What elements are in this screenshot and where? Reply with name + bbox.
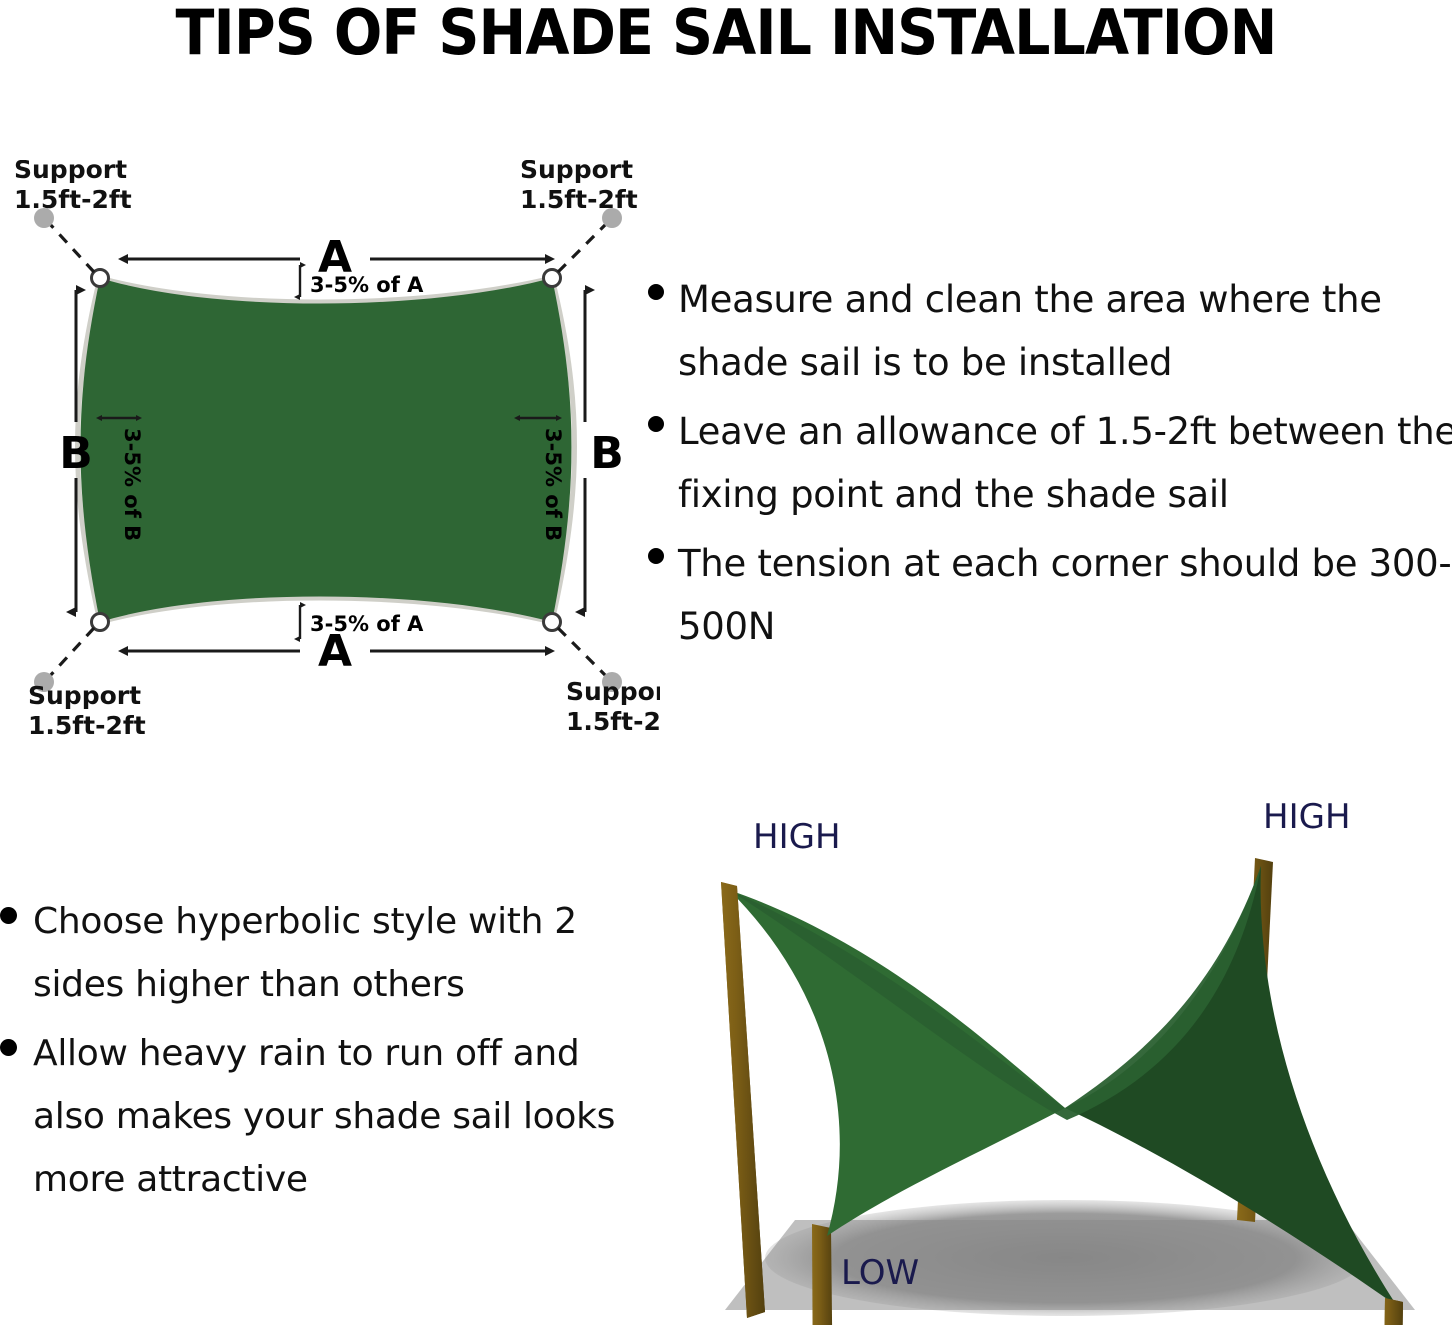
grommet-top-left [92, 270, 109, 287]
list-item: Measure and clean the area where the sha… [648, 268, 1452, 394]
dim-label-b-left: B [59, 428, 93, 479]
bullet-dot-icon [0, 907, 17, 924]
list-item: Leave an allowance of 1.5-2ft between th… [648, 400, 1452, 526]
infographic-page: TIPS OF SHADE SAIL INSTALLATION [0, 0, 1452, 1325]
grommet-bottom-left [92, 614, 109, 631]
dimension-b-right: B [585, 290, 624, 612]
bullet-dot-icon [648, 548, 664, 564]
support-label-bottom-left-line2: 1.5ft-2ft [28, 711, 146, 740]
tips-list-top: Measure and clean the area where the sha… [648, 268, 1452, 664]
support-line-bottom-right [558, 628, 608, 678]
rect-sail-diagram: A A B B 3-5% of A [0, 160, 660, 740]
support-label-top-right-line1: Support [520, 160, 633, 184]
curve-label-bottom: 3-5% of A [310, 612, 424, 636]
bullet-dot-icon [648, 284, 664, 300]
label-low-left: LOW [841, 1253, 919, 1293]
bullet-dot-icon [0, 1039, 17, 1056]
grommet-top-right [544, 270, 561, 287]
support-line-top-right [558, 222, 608, 272]
bullet-dot-icon [648, 416, 664, 432]
sail-body-shape [81, 278, 572, 622]
sail-panel-light [729, 890, 1065, 1236]
curve-callout-bottom: 3-5% of A [300, 605, 424, 639]
support-label-top-left-line1: Support [14, 160, 127, 184]
curve-label-right: 3-5% of B [541, 428, 565, 541]
support-label-bottom-right-line1: Support [566, 677, 660, 706]
support-label-bottom-right-line2: 1.5ft-2ft [566, 707, 660, 736]
tip-text: Measure and clean the area where the sha… [678, 268, 1452, 394]
hyperbolic-sail-diagram: HIGH HIGH LOW LOW [655, 790, 1452, 1325]
support-line-bottom-left [48, 628, 94, 678]
list-item: Allow heavy rain to run off and also mak… [0, 1022, 635, 1211]
pole-high-left-front [721, 882, 765, 1318]
support-label-bottom-left-line1: Support [28, 681, 141, 710]
list-item: Choose hyperbolic style with 2 sides hig… [0, 890, 635, 1016]
tip-text: The tension at each corner should be 300… [678, 532, 1452, 658]
grommet-bottom-right [544, 614, 561, 631]
curve-label-top: 3-5% of A [310, 273, 424, 297]
tip-text: Leave an allowance of 1.5-2ft between th… [678, 400, 1452, 526]
tip-text: Choose hyperbolic style with 2 sides hig… [33, 890, 635, 1016]
support-label-top-left-line2: 1.5ft-2ft [14, 185, 132, 214]
page-title: TIPS OF SHADE SAIL INSTALLATION [58, 0, 1394, 69]
label-high-right: HIGH [1263, 797, 1351, 837]
support-label-top-right-line2: 1.5ft-2ft [520, 185, 638, 214]
tip-text: Allow heavy rain to run off and also mak… [33, 1022, 635, 1211]
list-item: The tension at each corner should be 300… [648, 532, 1452, 658]
tips-list-bottom: Choose hyperbolic style with 2 sides hig… [0, 890, 635, 1217]
dim-label-b-right: B [590, 428, 624, 479]
pole-low-left [812, 1224, 833, 1325]
label-high-left: HIGH [753, 817, 841, 857]
support-line-top-left [48, 222, 94, 272]
curve-label-left: 3-5% of B [120, 428, 144, 541]
